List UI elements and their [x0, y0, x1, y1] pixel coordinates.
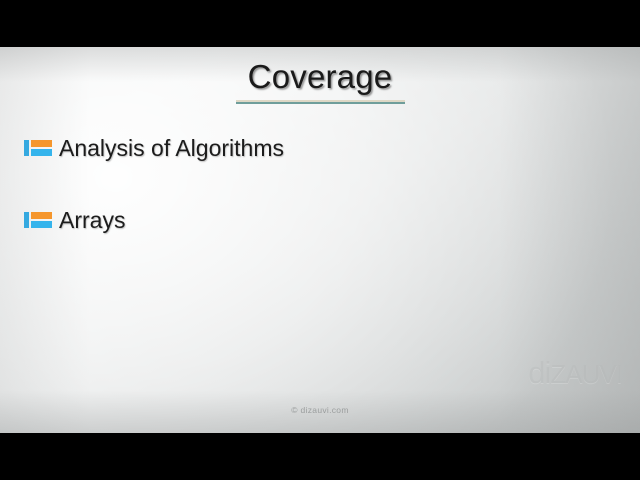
- page-title: Coverage: [248, 60, 393, 93]
- letterbox-bottom: [0, 433, 640, 480]
- bullet-vertical-bar: [24, 140, 29, 156]
- footer-copyright: © dizauvi.com: [0, 405, 640, 415]
- bullet-orange-bar: [31, 212, 52, 219]
- watermark-text: diZAUVI: [528, 357, 622, 388]
- bullet-list: Analysis of Algorithms Arrays: [24, 133, 584, 277]
- bar-chart-bullet-icon: [24, 211, 52, 229]
- list-item: Arrays: [24, 205, 584, 235]
- watermark-caps: ZAUVI: [550, 359, 622, 389]
- bullet-orange-bar: [31, 140, 52, 147]
- title-underline-rule: [236, 100, 405, 104]
- bar-chart-bullet-icon: [24, 139, 52, 157]
- watermark-lowercase: di: [528, 355, 550, 390]
- list-item-label: Analysis of Algorithms: [59, 137, 284, 160]
- list-item-label: Arrays: [59, 209, 125, 232]
- dizauvi-watermark-logo: diZAUVI: [528, 357, 622, 388]
- bullet-cyan-bar: [31, 149, 52, 156]
- slide-viewport: Coverage Analysis of Algorithms: [0, 0, 640, 480]
- list-item: Analysis of Algorithms: [24, 133, 584, 163]
- presentation-slide: Coverage Analysis of Algorithms: [0, 47, 640, 433]
- title-rule-lower-line: [236, 102, 405, 104]
- bullet-vertical-bar: [24, 212, 29, 228]
- letterbox-top: [0, 0, 640, 47]
- slide-title-block: Coverage: [0, 60, 640, 93]
- bullet-cyan-bar: [31, 221, 52, 228]
